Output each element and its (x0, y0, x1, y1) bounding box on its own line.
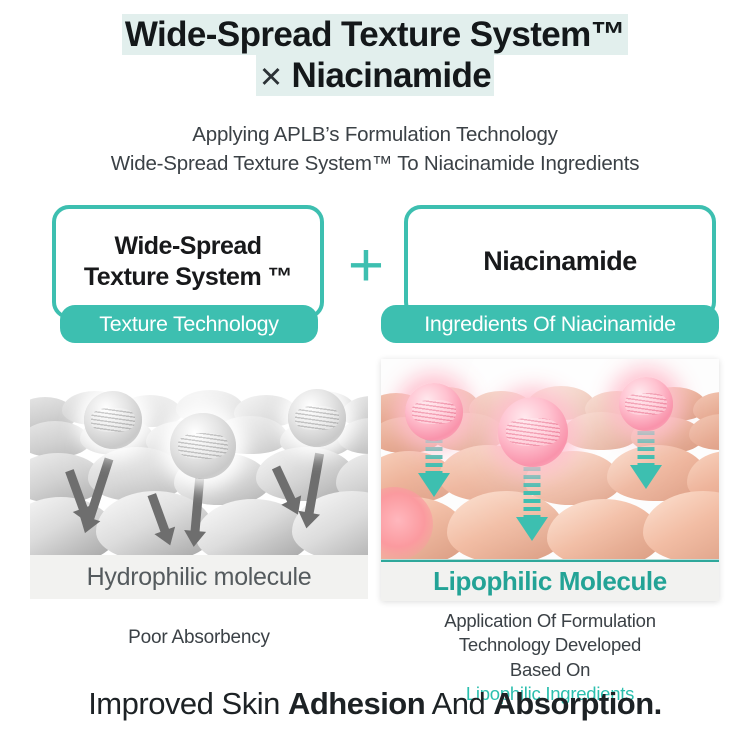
cross-multiply-icon: ✕ (259, 62, 292, 94)
molecule-gray-2 (170, 413, 236, 479)
infographic-page: Wide-Spread Texture System™ ✕Niacinamide… (0, 0, 750, 750)
molecule-gray-1 (84, 391, 142, 449)
subtitle-line-2: Wide-Spread Texture System™ To Niacinami… (0, 149, 750, 178)
concept-box-texture: Wide-Spread Texture System ™ (52, 205, 324, 319)
footer-statement: Improved Skin Adhesion And Absorption. (0, 686, 750, 722)
app-note-prefix: Based On (381, 658, 719, 682)
pill-ingredients-of-niacinamide: Ingredients Of Niacinamide (381, 305, 719, 343)
molecule-gray-3 (288, 389, 346, 447)
plus-icon: + (340, 241, 392, 293)
absorption-arrow-1 (417, 431, 451, 503)
note-poor-absorbency: Poor Absorbency (30, 627, 368, 649)
caption-lipophilic: Lipophilic Molecule (381, 562, 719, 601)
app-note-line-1: Application Of Formulation (381, 609, 719, 633)
hydrophilic-illustration (30, 361, 368, 555)
concept-row: Wide-Spread Texture System ™ + Niacinami… (0, 203, 750, 345)
texture-line-2: Texture System ™ (84, 263, 292, 291)
title-text-secondary: Niacinamide (292, 56, 492, 95)
title-line2-wrap: ✕Niacinamide (256, 55, 494, 96)
concept-box-niacinamide: Niacinamide (404, 205, 716, 319)
absorption-arrow-2 (515, 459, 549, 549)
niacinamide-line-1: Niacinamide (483, 245, 637, 278)
subtitle: Applying APLB’s Formulation Technology W… (0, 120, 750, 178)
texture-line-1: Wide-Spread (114, 232, 261, 260)
concept-box-texture-text: Wide-Spread Texture System ™ (84, 231, 292, 293)
footer-bold-adhesion: Adhesion (288, 686, 425, 721)
title-line-1: Wide-Spread Texture System™ (0, 14, 750, 55)
subtitle-line-1: Applying APLB’s Formulation Technology (0, 120, 750, 149)
app-note-line-2: Technology Developed (381, 633, 719, 657)
page-title: Wide-Spread Texture System™ ✕Niacinamide (0, 14, 750, 97)
panel-hydrophilic: Hydrophilic molecule (30, 361, 368, 599)
caption-hydrophilic: Hydrophilic molecule (30, 555, 368, 599)
absorption-arrow-3 (629, 423, 663, 495)
footer-part-2: And (425, 686, 493, 721)
pill-texture-technology: Texture Technology (60, 305, 318, 343)
title-text-primary: Wide-Spread Texture System™ (122, 14, 628, 55)
footer-part-1: Improved Skin (88, 686, 288, 721)
molecule-pink-2 (498, 397, 568, 467)
footer-bold-absorption: Absorption. (493, 686, 661, 721)
panel-lipophilic: Lipophilic Molecule (381, 359, 719, 601)
lipophilic-illustration (381, 359, 719, 559)
molecule-pink-3 (619, 377, 673, 431)
title-line-2: ✕Niacinamide (0, 55, 750, 96)
molecule-pink-1 (405, 383, 463, 441)
